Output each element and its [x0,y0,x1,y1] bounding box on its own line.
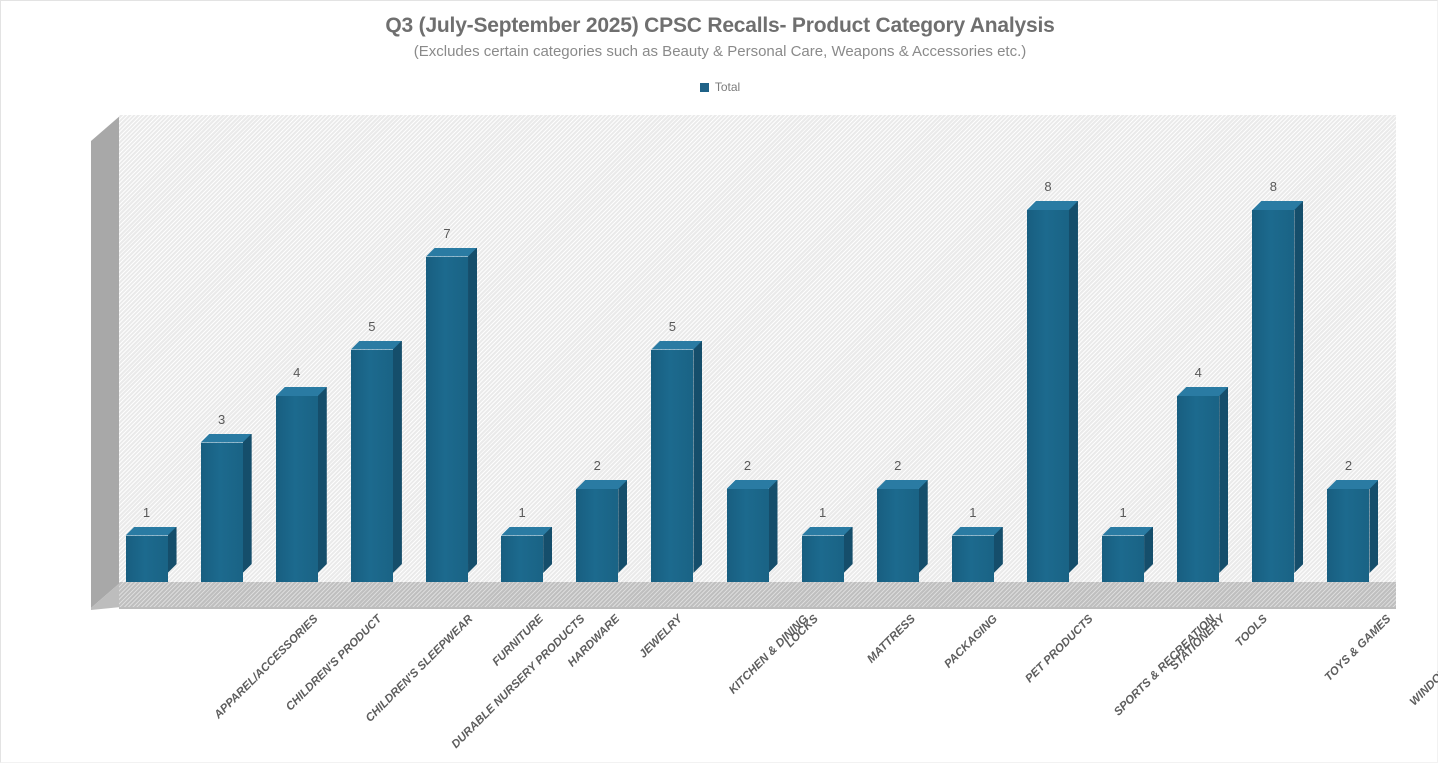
bar-side-face [393,341,402,574]
chart-legend: Total [1,80,1438,94]
legend-label-total: Total [715,80,740,94]
bar[interactable] [276,396,350,582]
category-label: PET PRODUCTS [1023,613,1095,685]
bar-slot: 1 [802,536,876,583]
bar-top-face [1252,201,1303,210]
bar-front-face [1027,210,1069,582]
bar-slot: 2 [727,489,801,582]
bar-value-label: 1 [802,505,844,520]
bar-value-label: 5 [351,319,393,334]
category-label: WINDOW COVERINGS [1408,613,1438,708]
bar[interactable] [576,489,650,582]
bar-slot: 4 [1177,396,1251,582]
bar-top-face [501,527,552,536]
bar-side-face [769,480,778,573]
bar-top-face [802,527,853,536]
bar-top-face [651,341,702,350]
bar-slot: 8 [1027,210,1101,582]
plot-floor-edge [119,607,1396,609]
bar[interactable] [1102,536,1176,583]
bar-slot: 5 [651,350,725,583]
bar[interactable] [877,489,951,582]
bar[interactable] [802,536,876,583]
bar-front-face [351,350,393,583]
bar-value-label: 2 [877,458,919,473]
bar-front-face [651,350,693,583]
bar[interactable] [1327,489,1401,582]
bar-front-face [276,396,318,582]
bar-value-label: 8 [1252,179,1294,194]
bar-top-face [727,480,778,489]
category-label: TOYS & GAMES [1323,613,1394,684]
bar[interactable] [952,536,1026,583]
category-label: MATTRESS [865,613,918,666]
bar-front-face [501,536,543,583]
bar-value-label: 1 [1102,505,1144,520]
category-label: TOOLS [1234,613,1270,649]
bar-front-face [201,443,243,583]
bar-side-face [1294,201,1303,573]
bar-value-label: 1 [501,505,543,520]
bar-front-face [126,536,168,583]
category-axis-labels: APPAREL/ACCESSORIESCHILDREN'S PRODUCTCHI… [91,613,1396,763]
bar-top-face [877,480,928,489]
bar-slot: 2 [576,489,650,582]
bar-side-face [468,248,477,574]
bar-value-label: 5 [651,319,693,334]
bar-slot: 2 [877,489,951,582]
bar-value-label: 4 [276,365,318,380]
bar-top-face [1102,527,1153,536]
bar[interactable] [1252,210,1326,582]
bar-slot: 7 [426,257,500,583]
bar-top-face [576,480,627,489]
legend-swatch-total [700,83,709,92]
bar-top-face [1177,387,1228,396]
bar-front-face [426,257,468,583]
bar-value-label: 1 [126,505,168,520]
bar-top-face [426,248,477,257]
bar-side-face [1369,480,1378,573]
bar-slot: 8 [1252,210,1326,582]
bar-value-label: 8 [1027,179,1069,194]
bar-slot: 2 [1327,489,1401,582]
bar[interactable] [351,350,425,583]
bar-side-face [318,387,327,573]
category-label: PACKAGING [942,613,1000,671]
bar-value-label: 2 [727,458,769,473]
bar-side-face [693,341,702,574]
bar-slot: 1 [1102,536,1176,583]
plot-left-wall [91,115,121,610]
category-label: APPAREL/ACCESSORIES [212,613,320,721]
bar[interactable] [501,536,575,583]
bar[interactable] [201,443,275,583]
bar[interactable] [1177,396,1251,582]
bar-top-face [952,527,1003,536]
bar-top-face [1327,480,1378,489]
bar-slot: 3 [201,443,275,583]
bar[interactable] [727,489,801,582]
bar-front-face [1327,489,1369,582]
bar-slot: 1 [126,536,200,583]
category-label: CHILDREN'S SLEEPWEAR [364,613,476,725]
bar-value-label: 1 [952,505,994,520]
bar-group: 13457125212181482 [119,115,1396,607]
bar-value-label: 4 [1177,365,1219,380]
bar-slot: 1 [501,536,575,583]
plot-area: 13457125212181482 [91,115,1396,607]
bar-side-face [618,480,627,573]
bar-front-face [576,489,618,582]
bar-front-face [877,489,919,582]
bar-side-face [1069,201,1078,573]
bar-side-face [919,480,928,573]
bar-slot: 5 [351,350,425,583]
bar-slot: 4 [276,396,350,582]
category-label: JEWELRY [637,613,685,661]
bar-front-face [1177,396,1219,582]
bar[interactable] [426,257,500,583]
chart-subtitle: (Excludes certain categories such as Bea… [1,43,1438,60]
bar-side-face [243,434,252,574]
bar-front-face [952,536,994,583]
bar-side-face [1219,387,1228,573]
bar-value-label: 3 [201,412,243,427]
bar-front-face [802,536,844,583]
bar-top-face [351,341,402,350]
bar[interactable] [126,536,200,583]
bar[interactable] [1027,210,1101,582]
bar-top-face [201,434,252,443]
category-label: STATIONERY [1168,613,1228,673]
bar-slot: 1 [952,536,1026,583]
bar[interactable] [651,350,725,583]
bar-top-face [276,387,327,396]
chart-title: Q3 (July-September 2025) CPSC Recalls- P… [1,14,1438,38]
bar-top-face [1027,201,1078,210]
chart-canvas: Q3 (July-September 2025) CPSC Recalls- P… [0,0,1438,763]
bar-front-face [727,489,769,582]
bar-value-label: 2 [1327,458,1369,473]
bar-front-face [1252,210,1294,582]
bar-value-label: 2 [576,458,618,473]
bar-value-label: 7 [426,226,468,241]
bar-front-face [1102,536,1144,583]
